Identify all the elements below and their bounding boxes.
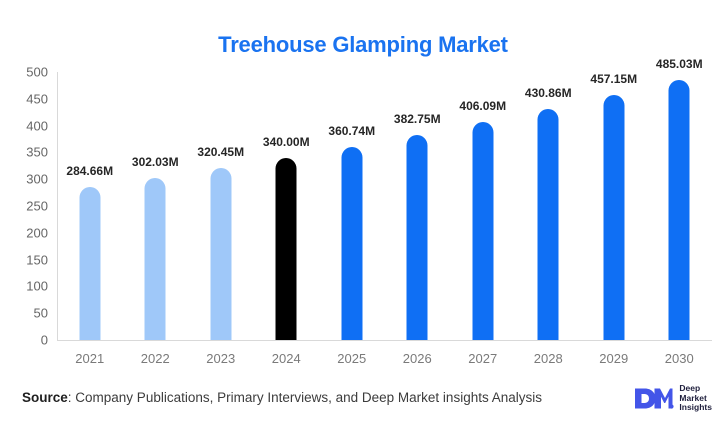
logo-line-3: Insights: [679, 403, 712, 413]
x-axis-tick-label: 2023: [206, 351, 235, 366]
bar[interactable]: [341, 147, 362, 340]
bar-value-label: 406.09M: [459, 99, 506, 113]
bar[interactable]: [669, 80, 690, 340]
x-axis-tick-label: 2027: [468, 351, 497, 366]
bar-group[interactable]: 360.74M2025: [320, 72, 384, 340]
bar-value-label: 360.74M: [328, 124, 375, 138]
y-axis-tick-label: 150: [26, 252, 48, 267]
bar-value-label: 320.45M: [197, 145, 244, 159]
chart-title: Treehouse Glamping Market: [0, 32, 726, 58]
x-axis-tick-label: 2028: [534, 351, 563, 366]
deep-market-insights-logo: Deep Market Insights: [634, 384, 712, 413]
bar[interactable]: [276, 158, 297, 340]
plot-area: 500450400350300250200150100500284.66M202…: [57, 72, 712, 340]
x-axis-tick-label: 2026: [403, 351, 432, 366]
chart-footer: Source: Company Publications, Primary In…: [0, 380, 726, 443]
bar-group[interactable]: 284.66M2021: [58, 72, 122, 340]
x-axis-tick-label: 2030: [665, 351, 694, 366]
bar[interactable]: [407, 135, 428, 340]
y-axis-tick-label: 500: [26, 65, 48, 80]
bar[interactable]: [145, 178, 166, 340]
source-line: Source: Company Publications, Primary In…: [22, 390, 542, 405]
source-label: Source: [22, 390, 68, 405]
x-axis-line: [57, 340, 712, 341]
bar-group[interactable]: 340.00M2024: [254, 72, 318, 340]
bar-value-label: 284.66M: [66, 164, 113, 178]
logo-text: Deep Market Insights: [679, 384, 712, 413]
bar[interactable]: [538, 109, 559, 340]
bar-value-label: 340.00M: [263, 135, 310, 149]
bar-value-label: 457.15M: [590, 72, 637, 86]
bar-value-label: 302.03M: [132, 155, 179, 169]
x-axis-tick-label: 2021: [75, 351, 104, 366]
source-text: : Company Publications, Primary Intervie…: [68, 390, 542, 405]
bar[interactable]: [79, 187, 100, 340]
chart-card: Treehouse Glamping Market 50045040035030…: [0, 0, 726, 443]
y-axis-tick-label: 250: [26, 199, 48, 214]
x-axis-tick-label: 2025: [337, 351, 366, 366]
bar-group[interactable]: 320.45M2023: [189, 72, 253, 340]
bar-group[interactable]: 485.03M2030: [647, 72, 711, 340]
y-axis-tick-label: 350: [26, 145, 48, 160]
x-axis-tick-label: 2024: [272, 351, 301, 366]
y-axis-tick-label: 50: [34, 306, 48, 321]
y-axis-tick-label: 300: [26, 172, 48, 187]
y-axis-tick-label: 200: [26, 225, 48, 240]
bar[interactable]: [603, 95, 624, 340]
bar-group[interactable]: 457.15M2029: [582, 72, 646, 340]
bar-group[interactable]: 430.86M2028: [516, 72, 580, 340]
y-axis-tick-label: 0: [41, 333, 48, 348]
bar-value-label: 485.03M: [656, 57, 703, 71]
y-axis-tick-label: 400: [26, 118, 48, 133]
bar-group[interactable]: 406.09M2027: [451, 72, 515, 340]
dm-monogram-icon: [634, 387, 674, 410]
y-axis-tick-label: 450: [26, 91, 48, 106]
x-axis-tick-label: 2022: [141, 351, 170, 366]
x-axis-tick-label: 2029: [599, 351, 628, 366]
bar[interactable]: [210, 168, 231, 340]
y-axis-tick-label: 100: [26, 279, 48, 294]
bar-group[interactable]: 302.03M2022: [123, 72, 187, 340]
bar[interactable]: [472, 122, 493, 340]
bar-group[interactable]: 382.75M2026: [385, 72, 449, 340]
bar-value-label: 430.86M: [525, 86, 572, 100]
bar-value-label: 382.75M: [394, 112, 441, 126]
